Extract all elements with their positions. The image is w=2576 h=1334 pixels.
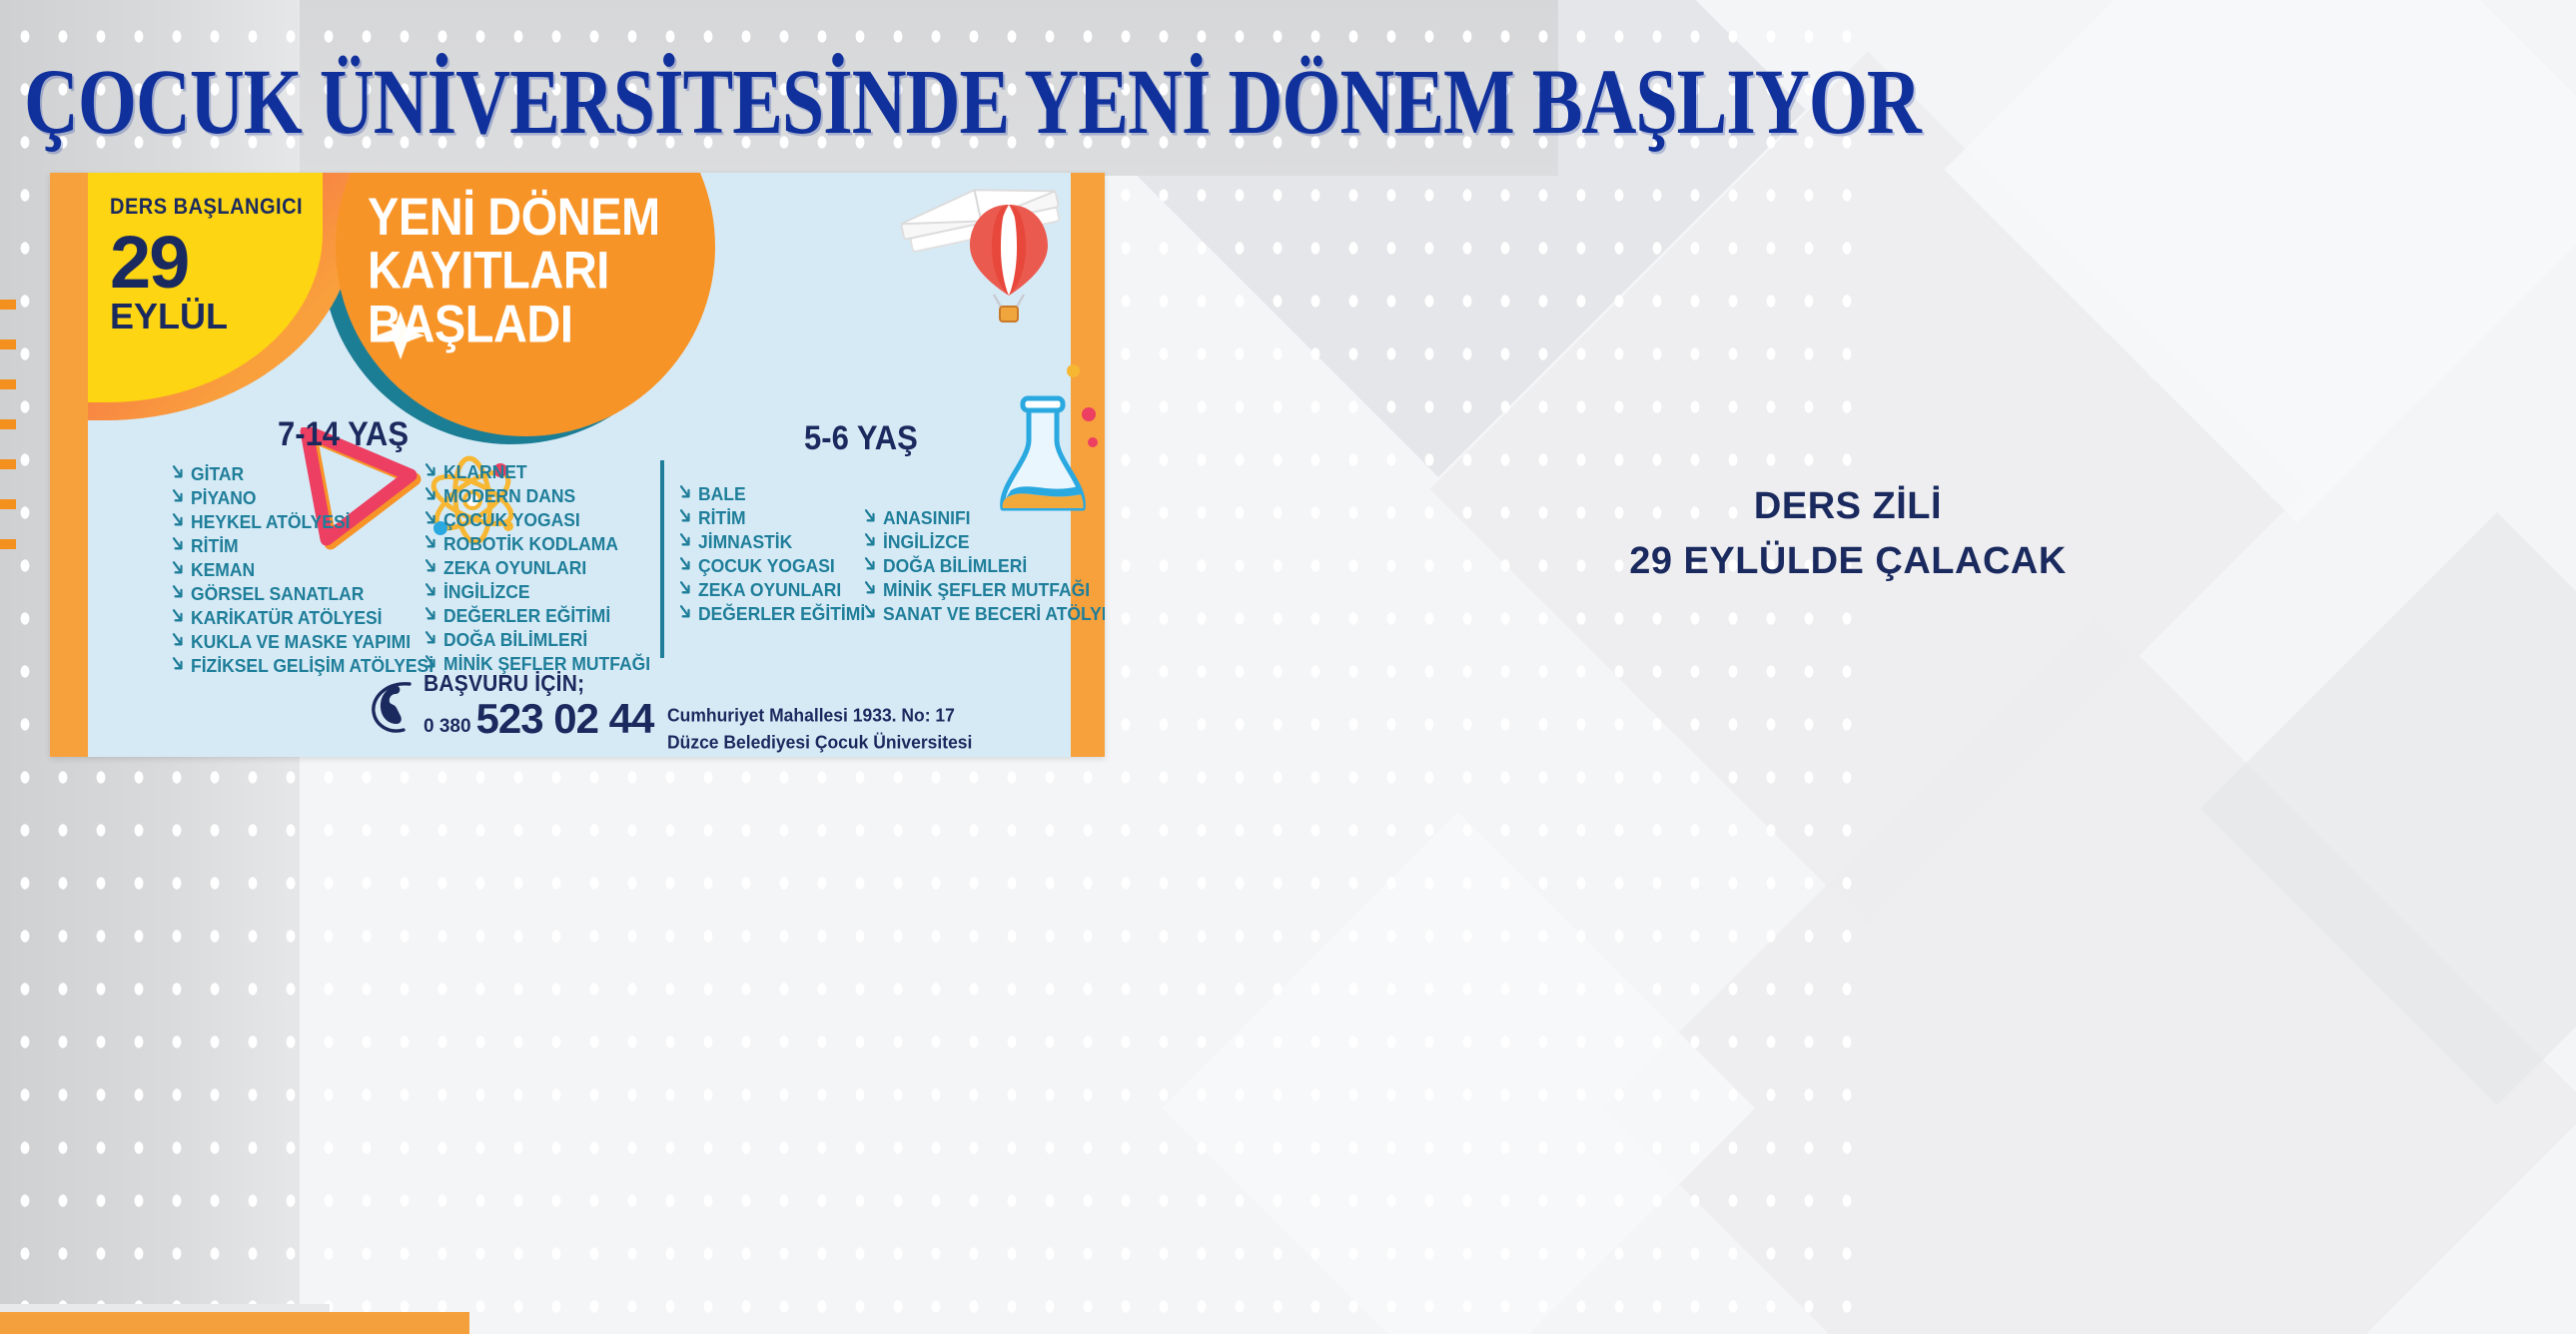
orange-tick — [0, 539, 16, 549]
course-column-7-14-b: KLARNETMODERN DANSÇOCUK YOGASIROBOTİK KO… — [425, 460, 650, 676]
arrow-down-right-icon — [172, 463, 186, 480]
poster-image: DERS BAŞLANGICI 29 EYLÜL YENİ DÖNEM KAYI… — [50, 173, 1105, 757]
course-item-label: DOĞA BİLİMLERİ — [443, 628, 587, 651]
arrow-down-right-icon — [425, 629, 438, 646]
arrow-down-right-icon — [172, 487, 186, 504]
contact-text: BAŞVURU İÇİN; 0 380 523 02 44 — [424, 672, 653, 739]
course-item-label: KARİKATÜR ATÖLYESİ — [191, 606, 383, 629]
bottom-grey-strip — [0, 1304, 330, 1312]
course-item-label: DEĞERLER EĞİTİMİ — [443, 604, 610, 627]
arrow-down-right-icon — [679, 555, 693, 572]
date-badge-text: DERS BAŞLANGICI 29 EYLÜL — [110, 195, 325, 337]
arrow-down-right-icon — [425, 509, 438, 526]
course-item-label: JİMNASTİK — [698, 530, 792, 553]
address-line-2: Düzce Belediyesi Çocuk Üniversitesi — [667, 729, 972, 756]
arrow-down-right-icon — [864, 579, 878, 596]
course-item-label: ZEKA OYUNLARI — [443, 556, 586, 579]
orange-tick — [0, 499, 16, 509]
course-item: KLARNET — [425, 460, 650, 483]
course-item: MODERN DANS — [425, 484, 650, 507]
course-item-label: GÖRSEL SANATLAR — [191, 582, 364, 605]
contact-block: BAŞVURU İÇİN; 0 380 523 02 44 — [370, 672, 653, 739]
course-item: DOĞA BİLİMLERİ — [864, 554, 1105, 577]
course-item: ÇOCUK YOGASI — [679, 554, 865, 577]
course-item-label: KLARNET — [443, 460, 527, 483]
course-item-label: İNGİLİZCE — [883, 530, 970, 553]
course-item-label: ROBOTİK KODLAMA — [443, 532, 618, 555]
course-item-label: ÇOCUK YOGASI — [698, 554, 835, 577]
page-title: ÇOCUK ÜNİVERSİTESİNDE YENİ DÖNEM BAŞLIYO… — [24, 56, 1552, 149]
arrow-down-right-icon — [679, 483, 693, 500]
arrow-down-right-icon — [864, 603, 878, 620]
course-item-label: PİYANO — [191, 486, 257, 509]
orange-tick — [0, 419, 16, 429]
course-item-label: ZEKA OYUNLARI — [698, 578, 841, 601]
arrow-down-right-icon — [425, 461, 438, 478]
orange-tick — [0, 459, 16, 469]
course-item: ÇOCUK YOGASI — [425, 508, 650, 531]
arrow-down-right-icon — [425, 557, 438, 574]
course-item: ROBOTİK KODLAMA — [425, 532, 650, 555]
course-item: KEMAN — [172, 558, 433, 581]
badge-label: DERS BAŞLANGICI — [110, 195, 325, 221]
arrow-down-right-icon — [172, 559, 186, 576]
badge-month: EYLÜL — [110, 296, 325, 337]
poster-headline-line3: BAŞLADI — [368, 297, 697, 350]
arrow-down-right-icon — [864, 555, 878, 572]
course-item: MİNİK ŞEFLER MUTFAĞI — [864, 578, 1105, 601]
column-divider — [660, 460, 664, 658]
course-item-label: MİNİK ŞEFLER MUTFAĞI — [883, 578, 1090, 601]
course-item: DEĞERLER EĞİTİMİ — [679, 602, 865, 625]
course-item: RİTİM — [172, 534, 433, 557]
badge-day: 29 — [110, 228, 325, 298]
course-item-label: ANASINIFI — [883, 506, 971, 529]
course-item-label: GİTAR — [191, 462, 244, 485]
poster-headline-line2: KAYITLARI — [368, 244, 697, 298]
course-item: SANAT VE BECERİ ATÖLYESİ — [864, 602, 1105, 625]
course-item: HEYKEL ATÖLYESİ — [172, 510, 433, 533]
arrow-down-right-icon — [172, 535, 186, 552]
arrow-down-right-icon — [864, 531, 878, 548]
age-group-header-7-14: 7-14 YAŞ — [278, 414, 409, 454]
course-item: KUKLA VE MASKE YAPIMI — [172, 630, 433, 653]
chemistry-flask-icon — [989, 390, 1104, 520]
arrow-down-right-icon — [172, 511, 186, 528]
course-item-label: ÇOCUK YOGASI — [443, 508, 580, 531]
course-item: İNGİLİZCE — [864, 530, 1105, 553]
course-item-label: DOĞA BİLİMLERİ — [883, 554, 1027, 577]
bg-shape — [1162, 812, 1755, 1334]
arrow-down-right-icon — [425, 485, 438, 502]
course-item: ZEKA OYUNLARI — [679, 578, 865, 601]
arrow-down-right-icon — [425, 581, 438, 598]
course-item-label: MODERN DANS — [443, 484, 575, 507]
course-item: PİYANO — [172, 486, 433, 509]
arrow-down-right-icon — [679, 579, 693, 596]
course-item-label: KEMAN — [191, 558, 255, 581]
arrow-down-right-icon — [425, 533, 438, 550]
poster-headline-line1: YENİ DÖNEM — [368, 190, 697, 244]
arrow-down-right-icon — [172, 607, 186, 624]
hot-air-balloon-icon — [964, 201, 1054, 331]
course-item-label: BALE — [698, 482, 746, 505]
course-column-5-6-a: BALERİTİMJİMNASTİKÇOCUK YOGASIZEKA OYUNL… — [679, 482, 865, 626]
arrow-down-right-icon — [425, 605, 438, 622]
course-column-7-14-a: GİTARPİYANOHEYKEL ATÖLYESİRİTİMKEMANGÖRS… — [172, 462, 433, 678]
age-group-header-5-6: 5-6 YAŞ — [804, 418, 918, 458]
course-item: DOĞA BİLİMLERİ — [425, 628, 650, 651]
course-item: JİMNASTİK — [679, 530, 865, 553]
course-item: ANASINIFI — [864, 506, 1105, 529]
decorative-dot — [1067, 364, 1080, 377]
side-note-line-2: 29 EYLÜLDE ÇALACAK — [1149, 534, 2547, 589]
arrow-down-right-icon — [679, 603, 693, 620]
address-line-1: Cumhuriyet Mahallesi 1933. No: 17 — [667, 702, 972, 729]
course-item: GÖRSEL SANATLAR — [172, 582, 433, 605]
arrow-down-right-icon — [679, 507, 693, 524]
course-item-label: KUKLA VE MASKE YAPIMI — [191, 630, 411, 653]
apply-label: BAŞVURU İÇİN; — [424, 672, 653, 696]
course-column-5-6-b: ANASINIFIİNGİLİZCEDOĞA BİLİMLERİMİNİK ŞE… — [864, 506, 1105, 626]
course-item-label: DEĞERLER EĞİTİMİ — [698, 602, 865, 625]
phone-area-code: 0 380 — [424, 717, 471, 736]
poster-left-bar — [50, 173, 88, 757]
side-note-line-1: DERS ZİLİ — [1149, 479, 2547, 534]
side-note: DERS ZİLİ 29 EYLÜLDE ÇALACAK — [1149, 479, 2547, 589]
arrow-down-right-icon — [172, 583, 186, 600]
course-item-label: İNGİLİZCE — [443, 580, 530, 603]
arrow-down-right-icon — [864, 507, 878, 524]
course-item: RİTİM — [679, 506, 865, 529]
course-item: İNGİLİZCE — [425, 580, 650, 603]
phone-row: 0 380 523 02 44 — [424, 699, 653, 739]
phone-number: 523 02 44 — [476, 699, 654, 739]
course-item-label: HEYKEL ATÖLYESİ — [191, 510, 350, 533]
poster-headline: YENİ DÖNEM KAYITLARI BAŞLADI — [368, 190, 697, 350]
address-block: Cumhuriyet Mahallesi 1933. No: 17 Düzce … — [667, 702, 972, 756]
bottom-orange-strip — [0, 1312, 469, 1334]
course-item: DEĞERLER EĞİTİMİ — [425, 604, 650, 627]
arrow-down-right-icon — [172, 655, 186, 672]
arrow-down-right-icon — [172, 631, 186, 648]
course-item: KARİKATÜR ATÖLYESİ — [172, 606, 433, 629]
course-item: GİTAR — [172, 462, 433, 485]
course-item: BALE — [679, 482, 865, 505]
orange-tick — [0, 300, 16, 310]
orange-tick — [0, 379, 16, 389]
orange-tick — [0, 339, 16, 349]
phone-icon — [370, 678, 418, 734]
course-item-label: RİTİM — [698, 506, 746, 529]
course-item: ZEKA OYUNLARI — [425, 556, 650, 579]
course-item-label: SANAT VE BECERİ ATÖLYESİ — [883, 602, 1105, 625]
arrow-down-right-icon — [679, 531, 693, 548]
course-item-label: RİTİM — [191, 534, 239, 557]
arrow-down-right-icon — [425, 653, 438, 670]
